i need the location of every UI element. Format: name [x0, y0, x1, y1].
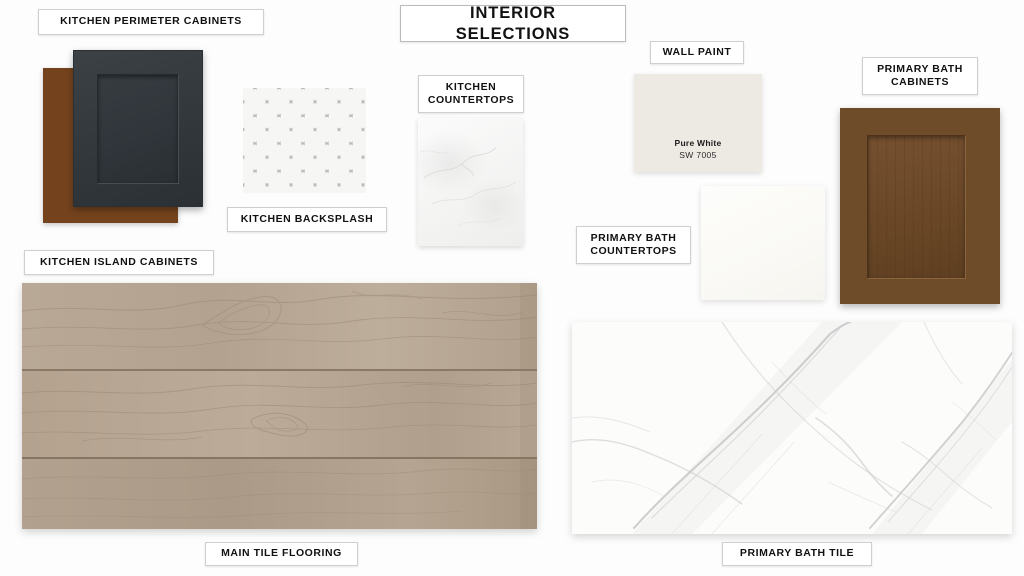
- swatch-wall-paint[interactable]: Pure White SW 7005: [634, 74, 762, 172]
- label-primary-bath-countertops: PRIMARY BATH COUNTERTOPS: [576, 226, 691, 264]
- swatch-kitchen-countertops[interactable]: [418, 118, 523, 246]
- cabinet-recessed-panel: [867, 135, 966, 278]
- label-wall-paint: WALL PAINT: [650, 41, 744, 64]
- label-main-tile-flooring: MAIN TILE FLOORING: [205, 542, 358, 566]
- cabinet-recessed-panel: [97, 74, 179, 184]
- swatch-primary-bath-tile[interactable]: [572, 322, 1012, 534]
- page-title: INTERIOR SELECTIONS: [400, 5, 626, 42]
- label-kitchen-backsplash: KITCHEN BACKSPLASH: [227, 207, 387, 232]
- interior-selections-board: INTERIOR SELECTIONS KITCHEN PERIMETER CA…: [0, 0, 1024, 576]
- paint-code: SW 7005: [679, 150, 716, 161]
- swatch-primary-bath-countertops[interactable]: [701, 186, 825, 300]
- paint-name: Pure White: [675, 138, 722, 149]
- swatch-kitchen-perimeter-cabinets[interactable]: [73, 50, 203, 207]
- label-kitchen-countertops: KITCHEN COUNTERTOPS: [418, 75, 524, 113]
- swatch-primary-bath-cabinets[interactable]: [840, 108, 1000, 304]
- label-primary-bath-cabinets: PRIMARY BATH CABINETS: [862, 57, 978, 95]
- swatch-main-tile-flooring[interactable]: [22, 283, 537, 529]
- swatch-kitchen-backsplash[interactable]: [243, 88, 366, 193]
- label-primary-bath-tile: PRIMARY BATH TILE: [722, 542, 872, 566]
- label-kitchen-island-cabinets: KITCHEN ISLAND CABINETS: [24, 250, 214, 275]
- label-kitchen-perimeter-cabinets: KITCHEN PERIMETER CABINETS: [38, 9, 264, 35]
